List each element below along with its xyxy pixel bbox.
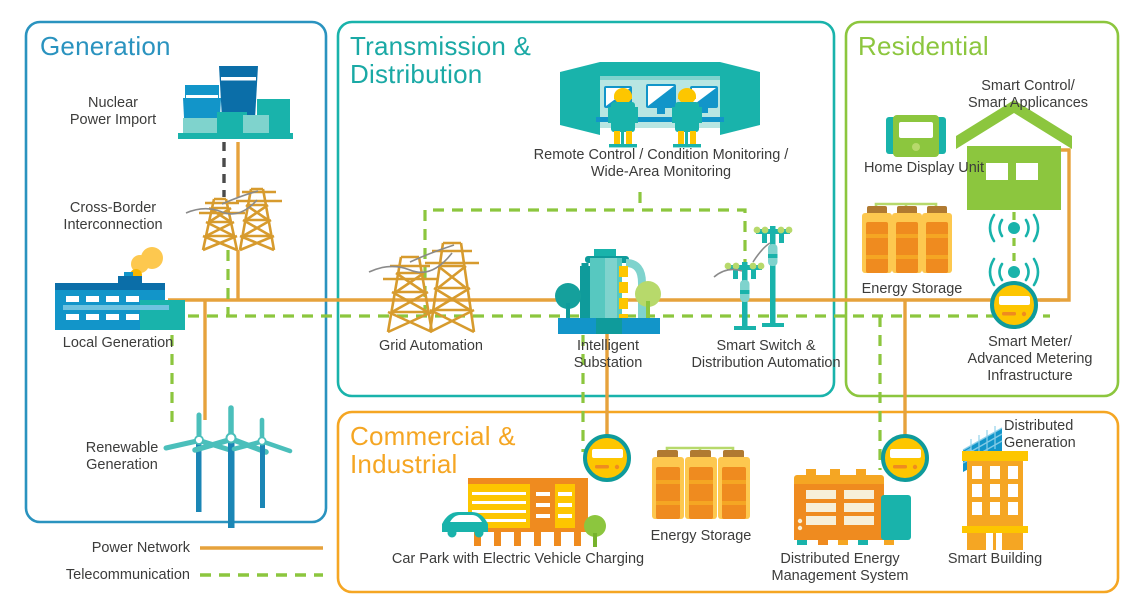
smart-meter-icon-commercial-right — [883, 436, 927, 480]
panel-title-generation: Generation — [40, 32, 171, 60]
label-car-park: Car Park with Electric Vehicle Charging — [378, 551, 658, 568]
smart-grid-diagram: Generation Transmission & Distribution R… — [0, 0, 1128, 616]
label-energy-storage-residential: Energy Storage — [852, 281, 972, 298]
energy-storage-icon-residential — [862, 204, 952, 273]
label-dems: Distributed Energy Management System — [760, 551, 920, 585]
label-smart-control: Smart Control/ Smart Applicances — [938, 78, 1118, 112]
label-grid-automation: Grid Automation — [356, 338, 506, 355]
home-display-unit-icon — [886, 115, 946, 157]
label-local-generation: Local Generation — [38, 335, 198, 352]
wind-turbines-icon — [166, 408, 290, 528]
cross-border-pylons-icon — [186, 189, 282, 250]
label-distributed-generation: Distributed Generation — [1004, 418, 1124, 452]
label-smart-meter: Smart Meter/ Advanced Metering Infrastru… — [948, 334, 1112, 385]
smart-house-icon — [956, 100, 1072, 210]
label-smart-switch: Smart Switch & Distribution Automation — [676, 338, 856, 372]
intelligent-substation-icon — [555, 249, 661, 334]
dems-icon — [794, 469, 911, 545]
label-remote-control: Remote Control / Condition Monitoring / … — [496, 147, 826, 181]
panel-title-residential: Residential — [858, 32, 989, 60]
panel-title-transmission: Transmission & Distribution — [350, 32, 531, 88]
control-room-icon — [560, 62, 760, 147]
label-energy-storage-commercial: Energy Storage — [641, 528, 761, 545]
label-nuclear-power-import: Nuclear Power Import — [48, 95, 178, 129]
label-cross-border-interconnection: Cross-Border Interconnection — [48, 200, 178, 234]
legend-label-power-network: Power Network — [40, 540, 190, 556]
smart-meter-icon-commercial-left — [585, 436, 629, 480]
legend-label-telecommunication: Telecommunication — [20, 567, 190, 583]
smart-meter-icon-residential — [992, 283, 1036, 327]
panel-title-commercial: Commercial & Industrial — [350, 422, 516, 478]
energy-storage-icon-commercial — [652, 448, 750, 519]
local-generation-icon — [55, 247, 185, 330]
nuclear-power-plant-icon — [178, 66, 293, 139]
label-smart-building: Smart Building — [930, 551, 1060, 568]
grid-automation-pylons-icon — [369, 243, 479, 332]
label-intelligent-substation: Intelligent Substation — [543, 338, 673, 372]
label-home-display-unit: Home Display Unit — [854, 160, 994, 177]
label-renewable-generation: Renewable Generation — [62, 440, 182, 474]
car-park-icon — [442, 478, 606, 547]
